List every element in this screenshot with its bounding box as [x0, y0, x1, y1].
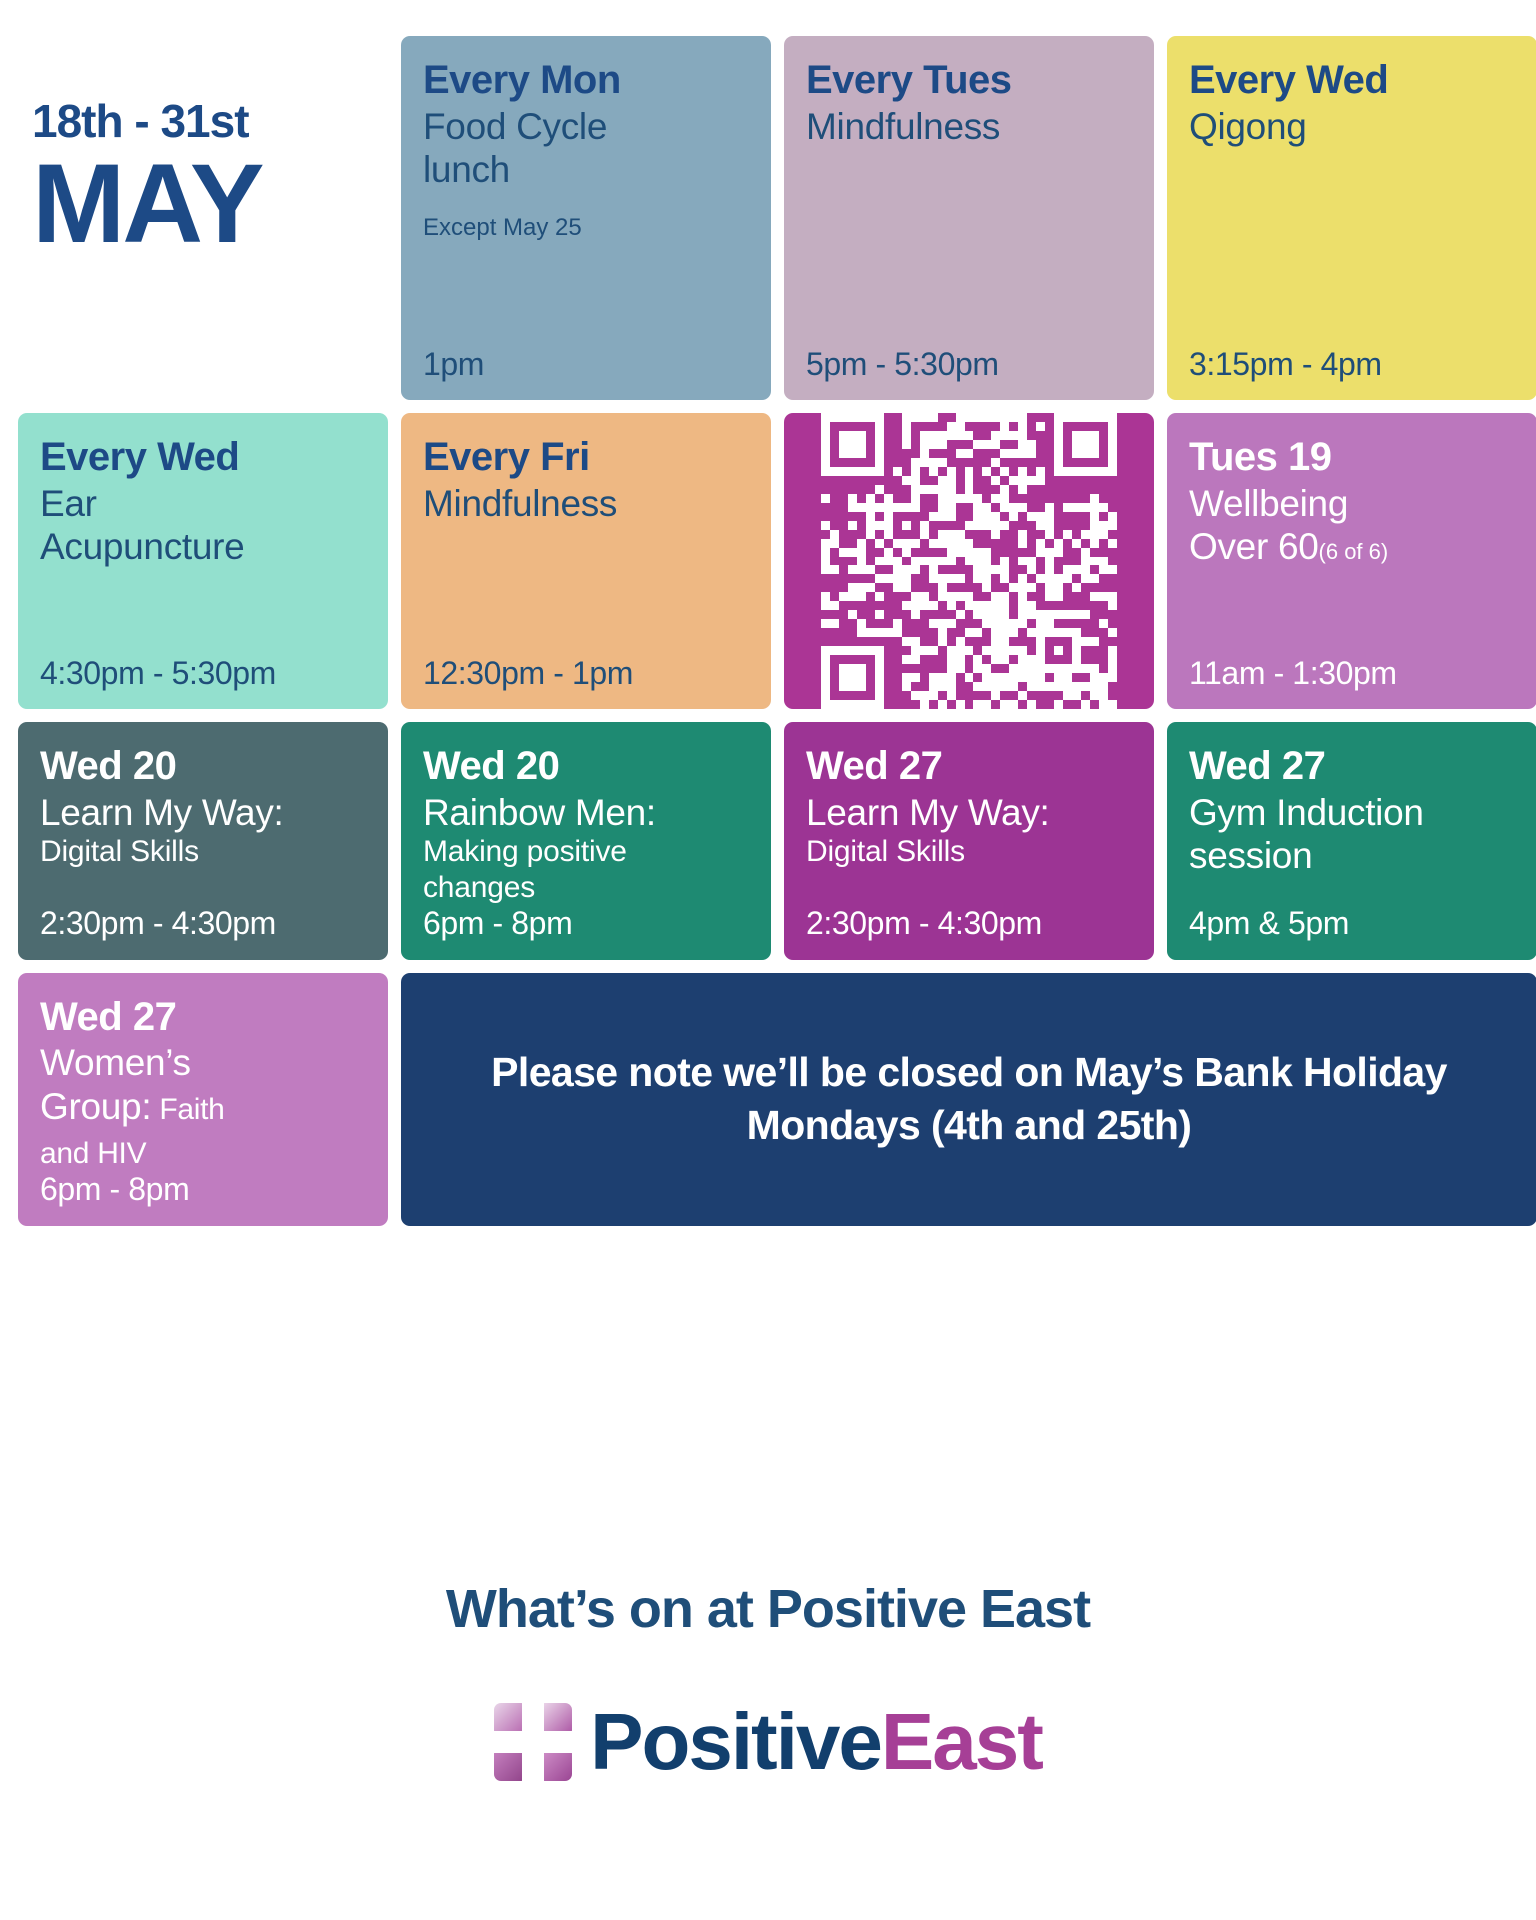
- logo-word-positive: Positive: [590, 1697, 881, 1786]
- poster-footer: What’s on at Positive East PositiveEast: [0, 1578, 1536, 1782]
- card-qr-code[interactable]: [784, 413, 1154, 709]
- card-day-label: Wed 20: [40, 744, 366, 789]
- card-day-label: Every Mon: [423, 58, 749, 103]
- closure-notice-text: Please note we’ll be closed on May’s Ban…: [441, 1046, 1497, 1153]
- card-every-wed-qigong[interactable]: Every Wed Qigong 3:15pm - 4pm: [1167, 36, 1536, 400]
- card-title-label: EarAcupuncture: [40, 482, 366, 569]
- card-every-mon-food-cycle-lunch[interactable]: Every Mon Food Cyclelunch Except May 25 …: [401, 36, 771, 400]
- footer-tagline: What’s on at Positive East: [0, 1578, 1536, 1640]
- card-wed-27-learn-my-way[interactable]: Wed 27 Learn My Way: Digital Skills 2:30…: [784, 722, 1154, 960]
- card-day-label: Wed 27: [40, 995, 366, 1040]
- card-time-label: 12:30pm - 1pm: [423, 656, 749, 691]
- card-time-label: 5pm - 5:30pm: [806, 347, 1132, 382]
- card-title-label: Gym Inductionsession: [1189, 791, 1515, 878]
- logo-wordmark: PositiveEast: [590, 1702, 1042, 1782]
- card-subtitle-label: Digital Skills: [40, 834, 366, 870]
- card-day-label: Every Fri: [423, 435, 749, 480]
- card-day-label: Wed 27: [1189, 744, 1515, 789]
- positive-east-logo: PositiveEast: [0, 1702, 1536, 1782]
- qr-code-icon: [821, 413, 1117, 709]
- card-tues-19-wellbeing-over-60[interactable]: Tues 19 WellbeingOver 60(6 of 6) 11am - …: [1167, 413, 1536, 709]
- card-title-label: Qigong: [1189, 105, 1515, 149]
- card-wed-27-womens-group[interactable]: Wed 27 Women’sGroup: Faithand HIV 6pm - …: [18, 973, 388, 1226]
- card-subtitle-label: Digital Skills: [806, 834, 1132, 870]
- card-title-suffix: (6 of 6): [1319, 539, 1389, 564]
- card-title-label: Food Cyclelunch: [423, 105, 749, 192]
- card-time-label: 6pm - 8pm: [423, 906, 749, 941]
- card-subtitle-label: Making positivechanges: [423, 834, 749, 906]
- card-time-label: 4pm & 5pm: [1189, 906, 1515, 941]
- card-title-label: Mindfulness: [806, 105, 1132, 149]
- card-day-label: Tues 19: [1189, 435, 1515, 480]
- card-wed-20-rainbow-men[interactable]: Wed 20 Rainbow Men: Making positivechang…: [401, 722, 771, 960]
- card-title-label: Learn My Way:: [806, 791, 1132, 835]
- date-range-label: 18th - 31st: [32, 98, 388, 144]
- card-day-label: Wed 20: [423, 744, 749, 789]
- card-time-label: 11am - 1:30pm: [1189, 656, 1515, 691]
- month-header: 18th - 31st MAY: [18, 36, 388, 400]
- month-label: MAY: [32, 148, 388, 260]
- card-every-tues-mindfulness[interactable]: Every Tues Mindfulness 5pm - 5:30pm: [784, 36, 1154, 400]
- card-note-label: Except May 25: [423, 214, 749, 243]
- card-every-wed-ear-acupuncture[interactable]: Every Wed EarAcupuncture 4:30pm - 5:30pm: [18, 413, 388, 709]
- card-wed-20-learn-my-way[interactable]: Wed 20 Learn My Way: Digital Skills 2:30…: [18, 722, 388, 960]
- card-time-label: 3:15pm - 4pm: [1189, 347, 1515, 382]
- card-title-label: Learn My Way:: [40, 791, 366, 835]
- card-day-label: Every Tues: [806, 58, 1132, 103]
- closure-notice-banner: Please note we’ll be closed on May’s Ban…: [401, 973, 1536, 1226]
- whats-on-poster: 18th - 31st MAY Every Mon Food Cyclelunc…: [0, 0, 1536, 1920]
- card-day-label: Every Wed: [1189, 58, 1515, 103]
- card-day-label: Wed 27: [806, 744, 1132, 789]
- card-every-fri-mindfulness[interactable]: Every Fri Mindfulness 12:30pm - 1pm: [401, 413, 771, 709]
- card-day-label: Every Wed: [40, 435, 366, 480]
- logo-word-east: East: [881, 1697, 1042, 1786]
- card-title-label: Rainbow Men:: [423, 791, 749, 835]
- card-title-label: Women’sGroup: Faithand HIV: [40, 1041, 366, 1172]
- card-time-label: 6pm - 8pm: [40, 1172, 366, 1207]
- card-time-label: 2:30pm - 4:30pm: [40, 906, 366, 941]
- card-time-label: 2:30pm - 4:30pm: [806, 906, 1132, 941]
- card-title-label: Mindfulness: [423, 482, 749, 526]
- card-time-label: 4:30pm - 5:30pm: [40, 656, 366, 691]
- card-title-label: WellbeingOver 60(6 of 6): [1189, 482, 1515, 569]
- card-time-label: 1pm: [423, 347, 749, 382]
- card-wed-27-gym-induction[interactable]: Wed 27 Gym Inductionsession 4pm & 5pm: [1167, 722, 1536, 960]
- events-grid: 18th - 31st MAY Every Mon Food Cyclelunc…: [18, 36, 1518, 1226]
- logo-squares-icon: [494, 1703, 572, 1781]
